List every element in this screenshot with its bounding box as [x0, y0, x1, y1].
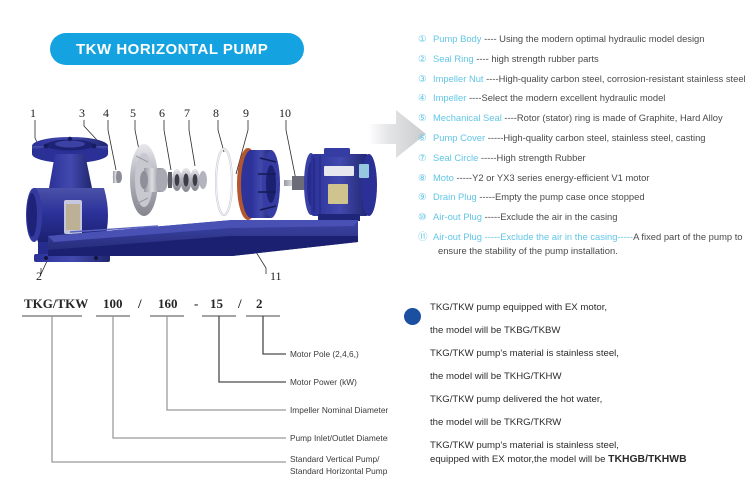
mechanical-seal-part: [168, 168, 207, 192]
legend-item-1: ① Pump Body ---- Using the modern optima…: [418, 33, 754, 45]
code-impeller-dia: 160: [158, 296, 178, 311]
legend-number-4: ④: [418, 92, 433, 104]
impeller-nut-part: [113, 171, 122, 183]
part-desc-2: high strength rubber parts: [491, 53, 598, 64]
code-dash: -: [194, 296, 198, 311]
part-desc-1: Using the modern optimal hydraulic model…: [499, 33, 704, 44]
part-desc-5: Rotor (stator) ring is made of Graphite,…: [517, 112, 723, 123]
callout-7: 7: [184, 106, 190, 120]
part-sep-5: ----: [502, 112, 517, 123]
part-sep-9: -----: [477, 191, 495, 202]
part-name-7: Seal Circle: [433, 152, 478, 163]
part-desc-7: High strength Rubber: [497, 152, 586, 163]
page-title: TKW HORIZONTAL PUMP: [50, 41, 268, 58]
pump-cover-part: [237, 148, 280, 220]
legend-number-1: ①: [418, 33, 433, 45]
variant-note-4: the model will be TKHG/TKHW: [430, 372, 754, 382]
legend-number-3: ③: [418, 73, 433, 85]
impeller-part: [130, 144, 168, 216]
variant-note-3: TKG/TKW pump's material is stainless ste…: [430, 349, 754, 359]
exploded-pump-diagram: 1 3 4 5 6 7 8 9 10 2 11: [8, 96, 380, 286]
part-name-5: Mechanical Seal: [433, 112, 502, 123]
callout-9: 9: [243, 106, 249, 120]
seal-circle-part: [216, 149, 232, 215]
code-series: TKG/TKW: [24, 296, 88, 311]
model-code-string: TKG/TKW 100 / 160 - 15 / 2: [24, 296, 263, 311]
part-name-2: Seal Ring: [433, 53, 474, 64]
code-pole: 2: [256, 296, 263, 311]
variant-note-8-prefix: equipped with EX motor,the model will be: [430, 454, 608, 465]
legend-number-8: ⑧: [418, 172, 433, 184]
bracket-label-motor-pole: Motor Pole (2,4,6,): [290, 349, 359, 359]
part-sep-10: -----: [482, 211, 500, 222]
callout-11: 11: [270, 269, 282, 283]
legend-text-6: Pump Cover -----High-quality carbon stee…: [433, 132, 706, 143]
legend-text-9: Drain Plug -----Empty the pump case once…: [433, 191, 645, 202]
bracket-lines: [22, 316, 286, 462]
part-sep-1: ----: [481, 33, 499, 44]
legend-number-9: ⑨: [418, 191, 433, 203]
part-desc-3: High-quality carbon steel, corrosion-res…: [499, 73, 746, 84]
part-desc-11-line2: ensure the stability of the pump install…: [433, 245, 743, 256]
legend-text-8: Moto -----Y2 or YX3 series energy-effici…: [433, 172, 649, 183]
part-sep-7: -----: [478, 152, 496, 163]
legend-item-7: ⑦ Seal Circle -----High strength Rubber: [418, 152, 754, 164]
legend-item-3: ③ Impeller Nut ----High-quality carbon s…: [418, 73, 754, 85]
legend-text-10: Air-out Plug -----Exclude the air in the…: [433, 211, 617, 222]
bracket-label-series-line1: Standard Vertical Pump/: [290, 454, 380, 464]
legend-text-3: Impeller Nut ----High-quality carbon ste…: [433, 73, 746, 84]
code-slash-1: /: [137, 296, 142, 311]
bracket-label-motor-power: Motor Power (kW): [290, 377, 357, 387]
part-name-4: Impeller: [433, 92, 466, 103]
part-desc-9: Empty the pump case once stopped: [495, 191, 645, 202]
callout-10: 10: [279, 106, 291, 120]
legend-text-11: Air-out Plug -----Exclude the air in the…: [433, 231, 743, 256]
legend-text-1: Pump Body ---- Using the modern optimal …: [433, 33, 705, 44]
model-designation-block: TKG/TKW 100 / 160 - 15 / 2: [18, 294, 388, 494]
legend-item-5: ⑤ Mechanical Seal ----Rotor (stator) rin…: [418, 112, 754, 124]
legend-number-11: ⑪: [418, 231, 433, 243]
legend-item-11: ⑪ Air-out Plug -----Exclude the air in t…: [418, 231, 754, 256]
code-slash-2: /: [237, 296, 242, 311]
part-sep-11: -----: [617, 231, 633, 242]
variant-note-6: the model will be TKRG/TKRW: [430, 418, 754, 428]
page-title-pill: TKW HORIZONTAL PUMP: [50, 33, 304, 65]
legend-item-2: ② Seal Ring ---- high strength rubber pa…: [418, 53, 754, 65]
legend-number-7: ⑦: [418, 152, 433, 164]
legend-item-9: ⑨ Drain Plug -----Empty the pump case on…: [418, 191, 754, 203]
variant-note-7: TKG/TKW pump's material is stainless ste…: [430, 441, 754, 451]
bracket-label-series-line2: Standard Horizontal Pump: [290, 466, 388, 476]
callout-5: 5: [130, 106, 136, 120]
part-sep-8: -----: [454, 172, 472, 183]
callout-6: 6: [159, 106, 165, 120]
legend-item-4: ④ Impeller ----Select the modern excelle…: [418, 92, 754, 104]
part-name-9: Drain Plug: [433, 191, 477, 202]
part-name-8: Moto: [433, 172, 454, 183]
variant-note-2: the model will be TKBG/TKBW: [430, 326, 754, 336]
legend-text-4: Impeller ----Select the modern excellent…: [433, 92, 665, 103]
variant-notes-list: TKG/TKW pump equipped with EX motor, the…: [430, 303, 754, 466]
callout-1: 1: [30, 106, 36, 120]
part-name-1: Pump Body: [433, 33, 481, 44]
callout-3: 3: [79, 106, 85, 120]
part-desc-11: A fixed part of the pump to: [633, 231, 742, 242]
legend-item-10: ⑩ Air-out Plug -----Exclude the air in t…: [418, 211, 754, 223]
part-desc-4: Select the modern excellent hydraulic mo…: [481, 92, 665, 103]
legend-number-10: ⑩: [418, 211, 433, 223]
legend-item-6: ⑥ Pump Cover -----High-quality carbon st…: [418, 132, 754, 144]
legend-text-2: Seal Ring ---- high strength rubber part…: [433, 53, 599, 64]
part-sep-4: ----: [466, 92, 481, 103]
part-desc-8: Y2 or YX3 series energy-efficient V1 mot…: [472, 172, 649, 183]
code-power: 15: [210, 296, 224, 311]
part-sep-6: -----: [485, 132, 503, 143]
bracket-label-impeller-dia: Impeller Nominal Diameter (mm): [290, 405, 388, 415]
part-name-3: Impeller Nut: [433, 73, 484, 84]
variant-note-8-model: TKHGB/TKHWB: [608, 454, 687, 465]
callout-4: 4: [103, 106, 109, 120]
legend-number-5: ⑤: [418, 112, 433, 124]
variant-notes-block: TKG/TKW pump equipped with EX motor, the…: [404, 303, 754, 479]
part-desc-10: Exclude the air in the casing: [500, 211, 617, 222]
part-sep-3: ----: [484, 73, 499, 84]
bracket-labels: Motor Pole (2,4,6,) Motor Power (kW) Imp…: [290, 349, 388, 476]
part-desc-6: High-quality carbon steel, stainless ste…: [503, 132, 705, 143]
legend-text-5: Mechanical Seal ----Rotor (stator) ring …: [433, 112, 723, 123]
legend-item-8: ⑧ Moto -----Y2 or YX3 series energy-effi…: [418, 172, 754, 184]
callout-2: 2: [36, 269, 42, 283]
bracket-label-inlet-dia: Pump Inlet/Outlet Diameter (mm): [290, 433, 388, 443]
bullet-dot-icon: [404, 308, 421, 325]
callout-8: 8: [213, 106, 219, 120]
part-sep-2: ----: [474, 53, 492, 64]
variant-note-5: TKG/TKW pump delivered the hot water,: [430, 395, 754, 405]
legend-number-2: ②: [418, 53, 433, 65]
parts-legend: ① Pump Body ---- Using the modern optima…: [418, 33, 754, 264]
part-name-10: Air-out Plug: [433, 211, 482, 222]
part-name-11: Air-out Plug -----Exclude the air in the…: [433, 231, 617, 242]
variant-note-8: equipped with EX motor,the model will be…: [430, 455, 754, 466]
variant-note-1: TKG/TKW pump equipped with EX motor,: [430, 303, 754, 313]
legend-text-7: Seal Circle -----High strength Rubber: [433, 152, 586, 163]
part-name-6: Pump Cover: [433, 132, 485, 143]
code-inlet: 100: [103, 296, 123, 311]
legend-number-6: ⑥: [418, 132, 433, 144]
